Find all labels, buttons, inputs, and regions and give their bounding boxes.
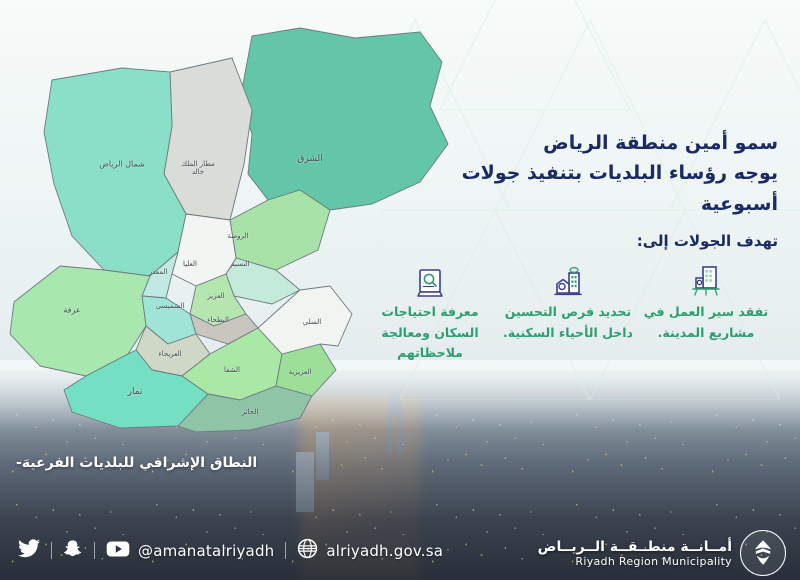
map-region-label: نمار — [128, 387, 143, 397]
map-region-label: الروضة — [227, 232, 248, 240]
map-region-label: العزيز — [207, 292, 224, 300]
construction-building-icon — [640, 262, 772, 298]
footer-bar: @amanatalriyadh alriyadh.gov.sa — [0, 524, 800, 580]
map-region-label: النسيم — [230, 260, 249, 268]
headline: سمو أمين منطقة الرياض يوجه رؤساء البلديا… — [378, 128, 778, 219]
brand-name-en: Riyadh Region Municipality — [538, 555, 732, 568]
twitter-icon[interactable] — [18, 539, 40, 562]
document-review-icon — [364, 262, 496, 298]
social-links: @amanatalriyadh alriyadh.gov.sa — [18, 538, 443, 563]
divider — [94, 542, 95, 559]
skyline-tower-3 — [296, 452, 314, 512]
map-region-label: العزيزية — [289, 368, 312, 376]
map-region-label: العليا — [183, 260, 197, 268]
headline-line-2: يوجه رؤساء البلديات بتنفيذ جولات أسبوعية — [378, 158, 778, 219]
goal-column-1: معرفة احتياجات السكان ومعالجة ملاحظاتهم — [364, 262, 496, 364]
divider — [285, 542, 286, 559]
goals-columns: معرفة احتياجات السكان ومعالجة ملاحظاتهم — [364, 262, 784, 364]
map-region-label: المعذر — [149, 268, 168, 276]
skyline-tower-2 — [316, 432, 329, 480]
map-region-label: الشميسي — [156, 302, 185, 310]
map-region-label: الحائر — [242, 408, 259, 416]
goal-text-1: معرفة احتياجات السكان ومعالجة ملاحظاتهم — [364, 302, 496, 364]
youtube-icon[interactable] — [106, 540, 130, 562]
goal-column-3: تفقد سير العمل في مشاريع المدينة. — [640, 262, 772, 364]
map-region-label: الشرق — [297, 154, 322, 164]
goals-subheading: تهدف الجولات إلى: — [637, 232, 778, 250]
neighborhood-buildings-icon — [502, 262, 634, 298]
municipality-brand: أمــانــة منطــقــة الــريــاض Riyadh Re… — [538, 530, 786, 576]
map-region-label: عرفة — [63, 305, 80, 314]
divider — [51, 542, 52, 559]
map-region-label: العريجاء — [158, 350, 181, 358]
brand-text: أمــانــة منطــقــة الــريــاض Riyadh Re… — [538, 539, 732, 568]
headline-line-1: سمو أمين منطقة الرياض — [543, 132, 778, 154]
globe-icon — [297, 538, 318, 563]
map-region-label: شمال الرياض — [99, 159, 145, 168]
website-url[interactable]: alriyadh.gov.sa — [326, 542, 443, 560]
map-region-label: الشفا — [224, 366, 240, 374]
map-region-label: السلي — [303, 318, 321, 326]
goal-text-3: تفقد سير العمل في مشاريع المدينة. — [640, 302, 772, 343]
goal-text-2: تحديد فرص التحسين داخل الأحياء السكنية. — [502, 302, 634, 343]
map-region-label: البطحاء — [207, 316, 229, 324]
goal-column-2: تحديد فرص التحسين داخل الأحياء السكنية. — [502, 262, 634, 364]
social-handle[interactable]: @amanatalriyadh — [138, 542, 274, 560]
map-region-label: مطار الملك خالد — [181, 160, 215, 176]
infographic-poster: شمال الرياض مطار الملك خالد الشرق الروضة… — [0, 0, 800, 580]
riyadh-municipalities-map: شمال الرياض مطار الملك خالد الشرق الروضة… — [0, 14, 470, 434]
map-caption: النطاق الإشرافي للبلديات الفرعية- — [16, 455, 257, 471]
riyadh-municipality-emblem — [740, 530, 786, 576]
brand-name-ar: أمــانــة منطــقــة الــريــاض — [538, 539, 732, 555]
snapchat-icon[interactable] — [63, 539, 83, 563]
